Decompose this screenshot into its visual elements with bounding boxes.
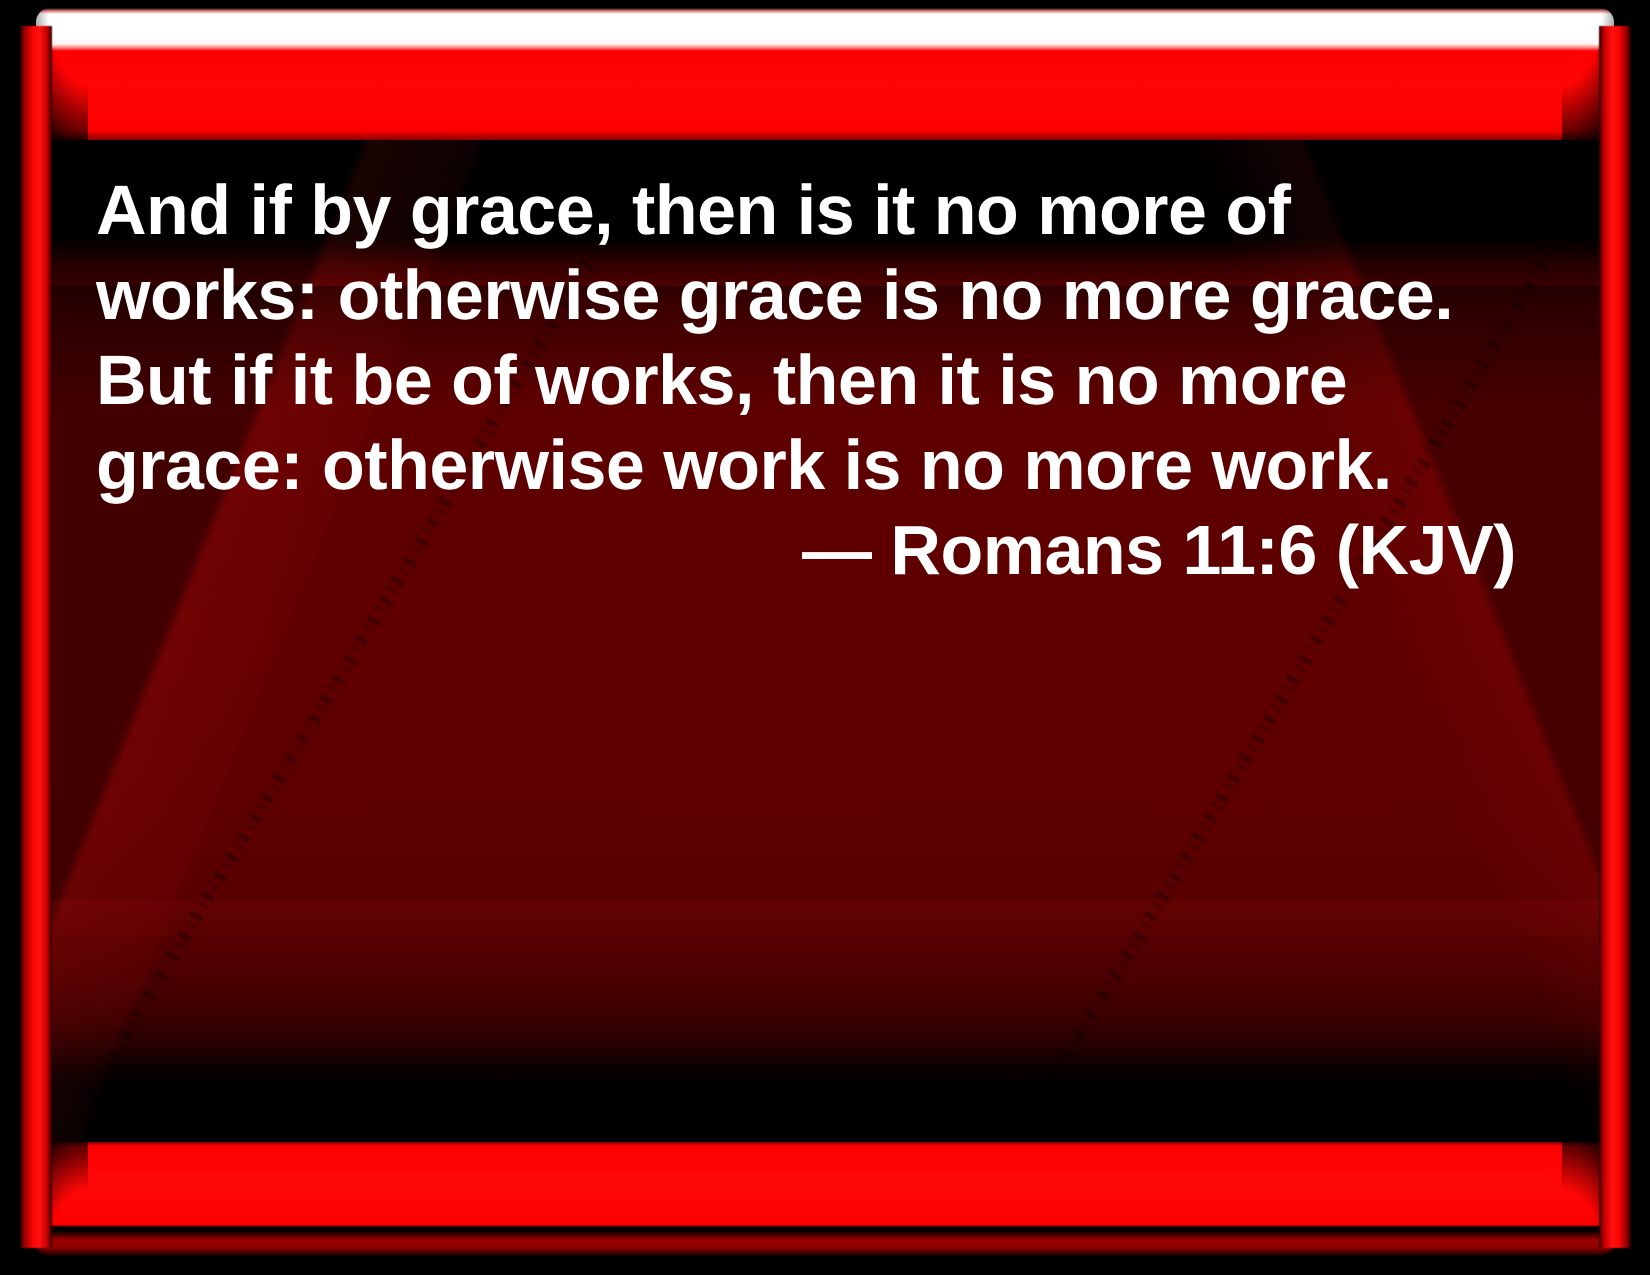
top-red-band: [36, 8, 1614, 144]
verse-text: And if by grace, then is it no more of w…: [96, 168, 1516, 508]
bottom-red-band: [36, 1140, 1614, 1256]
right-red-bar: [1599, 26, 1631, 1248]
left-red-bar: [20, 26, 52, 1248]
panel-lower-highlight: [52, 900, 1599, 936]
verse-slide: And if by grace, then is it no more of w…: [0, 0, 1650, 1275]
verse-attribution: — Romans 11:6 (KJV): [96, 508, 1516, 593]
